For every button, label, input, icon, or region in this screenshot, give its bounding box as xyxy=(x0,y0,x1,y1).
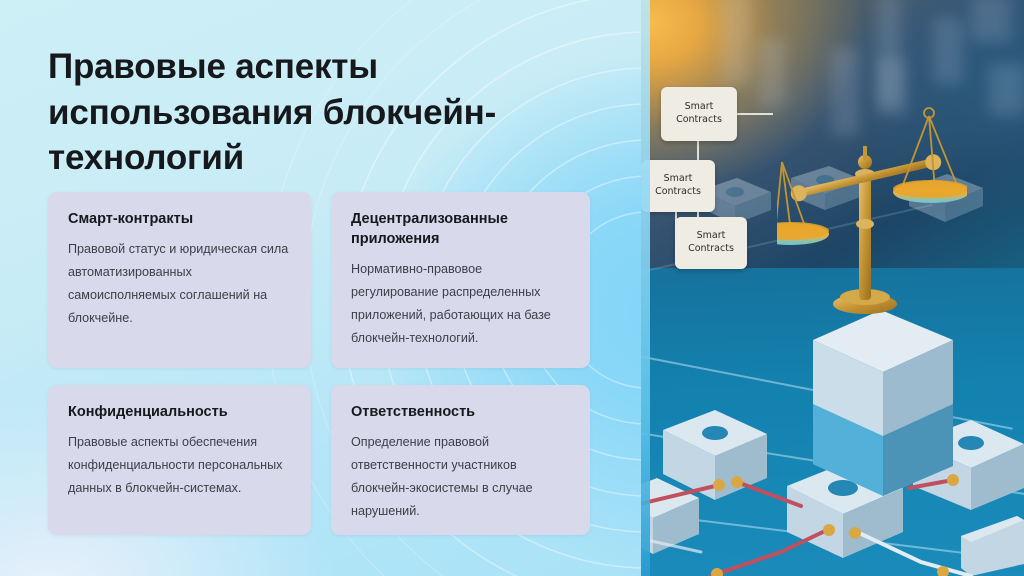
sc-line-2: Contracts xyxy=(676,114,722,127)
panel-seam xyxy=(641,0,650,576)
card-title: Децентрализованные приложения xyxy=(351,209,570,249)
left-content-panel: Правовые аспекты использования блокчейн-… xyxy=(0,0,641,576)
card-liability: Ответственность Определение правовой отв… xyxy=(331,385,590,535)
sc-line-2: Contracts xyxy=(655,186,701,199)
smart-contract-box: Smart Contracts xyxy=(661,87,737,141)
sc-line-1: Smart xyxy=(664,173,693,186)
smart-contract-box: Smart Contracts xyxy=(641,160,715,212)
scale-of-justice-icon xyxy=(777,104,967,324)
card-decentralized-apps: Децентрализованные приложения Нормативно… xyxy=(331,192,590,368)
sc-line-1: Smart xyxy=(697,230,726,243)
background-bar xyxy=(721,0,751,85)
card-title: Конфиденциальность xyxy=(68,402,291,422)
card-title: Смарт-контракты xyxy=(68,209,291,229)
background-bar xyxy=(989,64,1024,116)
sc-line-1: Smart xyxy=(685,101,714,114)
illustration-panel: Smart Contracts Smart Contracts Smart Co… xyxy=(641,0,1024,576)
background-bar xyxy=(759,38,785,108)
background-bar xyxy=(933,18,963,84)
cube-bottom-right xyxy=(961,516,1024,576)
background-bar xyxy=(971,0,1011,42)
card-body: Определение правовой ответственности уча… xyxy=(351,431,570,523)
slide: Правовые аспекты использования блокчейн-… xyxy=(0,0,1024,576)
card-body: Правовые аспекты обеспечения конфиденциа… xyxy=(68,431,291,500)
tall-pedestal xyxy=(809,300,957,540)
card-confidentiality: Конфиденциальность Правовые аспекты обес… xyxy=(48,385,311,535)
connector-line xyxy=(737,113,773,115)
page-title: Правовые аспекты использования блокчейн-… xyxy=(48,44,528,181)
sc-line-2: Contracts xyxy=(688,243,734,256)
card-title: Ответственность xyxy=(351,402,570,422)
card-body: Нормативно-правовое регулирование распре… xyxy=(351,258,570,350)
smart-contract-box: Smart Contracts xyxy=(675,217,747,269)
card-body: Правовой статус и юридическая сила автом… xyxy=(68,238,291,330)
card-smart-contracts: Смарт-контракты Правовой статус и юридич… xyxy=(48,192,311,368)
